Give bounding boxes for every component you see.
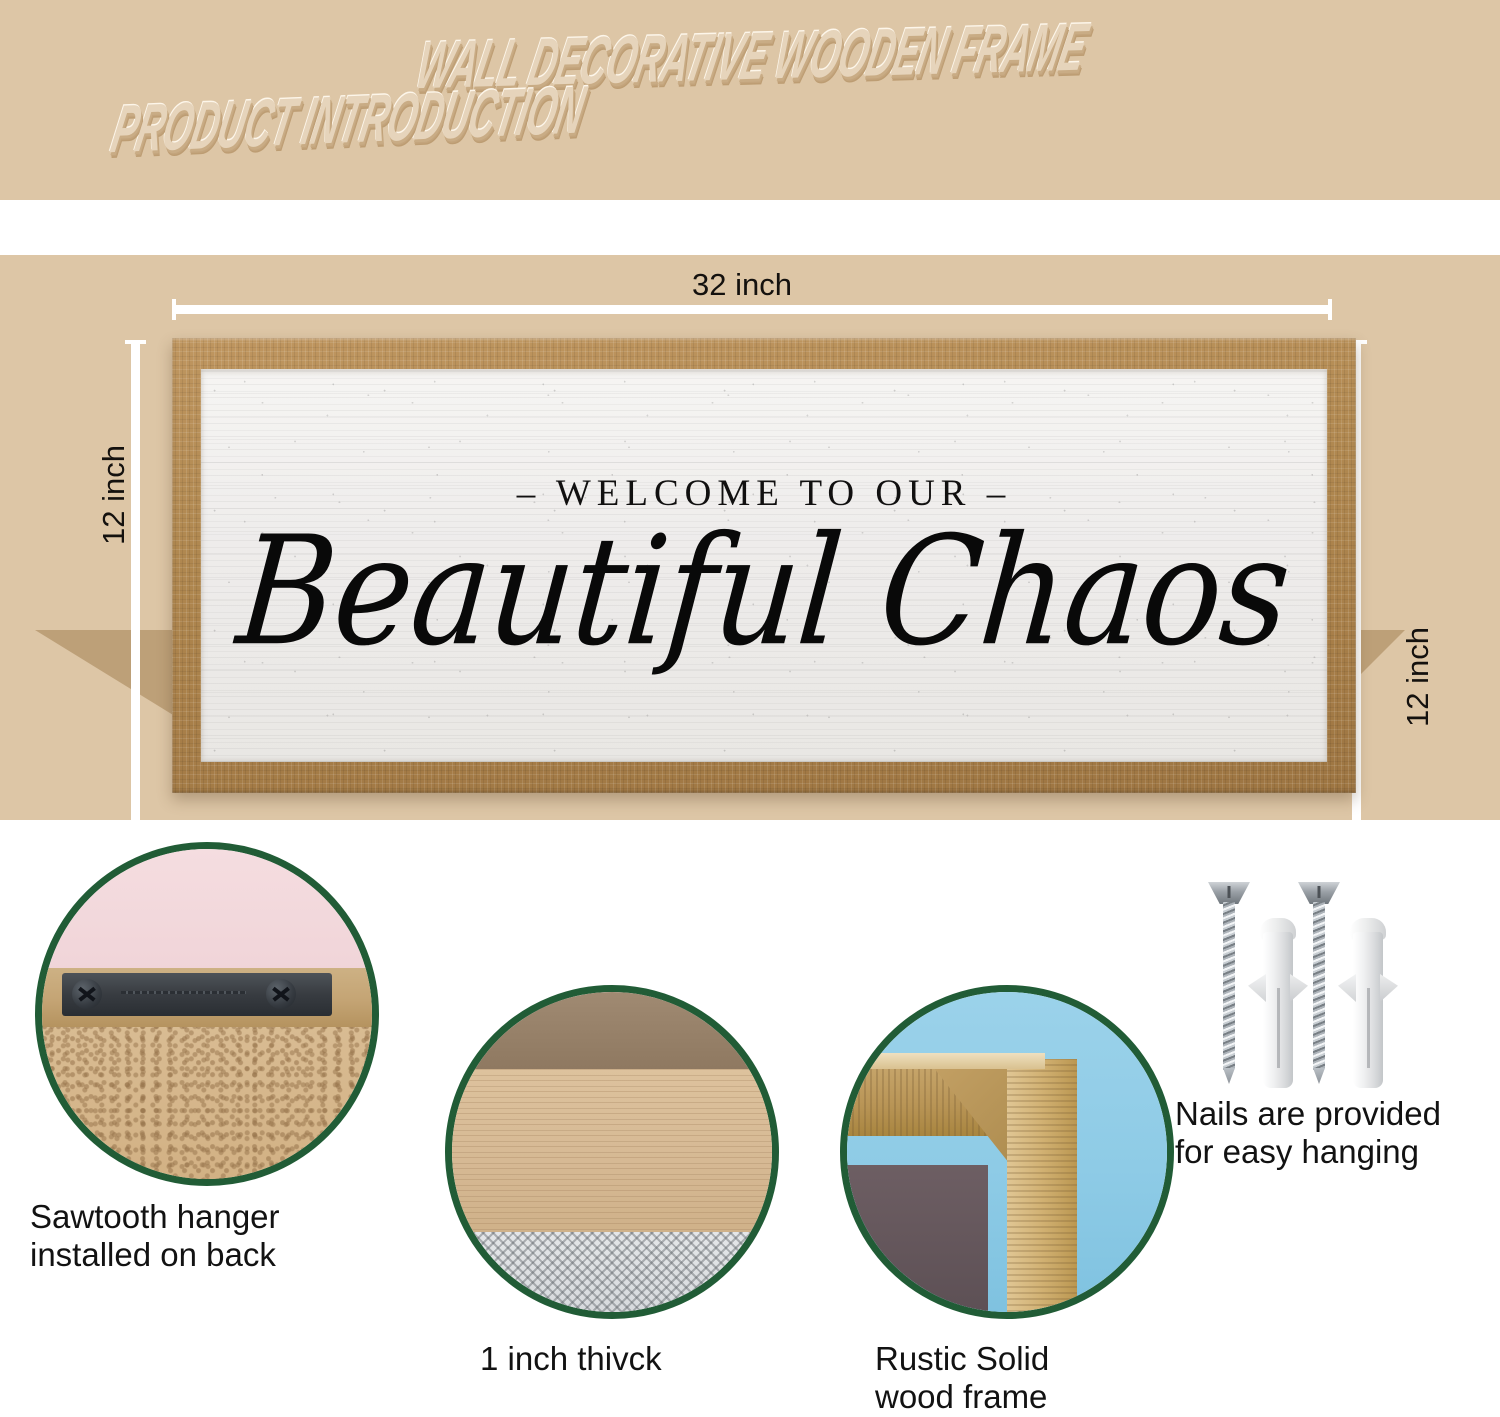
feature-caption-thickness: 1 inch thivck [480,1340,800,1378]
feature-photo-sawtooth-hanger [35,842,379,1186]
pink-wall-background [42,849,372,974]
caption-line-1: Sawtooth hanger [30,1198,390,1236]
dimension-label-height-right: 12 inch [1400,627,1436,727]
mesh-surface [452,1232,772,1312]
screw-shaft [1223,902,1235,1070]
screw-shaft [1313,902,1325,1070]
anchor-wing-right [1290,974,1308,1002]
wooden-sign-frame: – WELCOME TO OUR – Beautiful Chaos [172,338,1356,793]
wall-anchor-icon-2 [1347,918,1389,1088]
header-title-line-2: PRODUCT INTRODUCTION [61,80,636,158]
screw-icon-2 [1309,882,1329,1082]
screw-head [1208,882,1250,904]
feature-caption-nails: Nails are provided for easy hanging [1175,1095,1500,1172]
feature-photo-thickness [445,985,779,1319]
caption-line-2: for easy hanging [1175,1133,1500,1171]
caption-line-1: Nails are provided [1175,1095,1500,1133]
caption-line-1: Rustic Solid [875,1340,1205,1378]
feature-photo-wood-frame [840,985,1174,1319]
anchor-slot [1367,988,1370,1068]
frame-vertical-rail [1007,1059,1077,1312]
wood-top-surface [452,992,772,1072]
anchor-wing-left [1338,974,1356,1002]
caption-line-2: wood frame [875,1378,1205,1416]
dark-floor-background [847,1165,988,1312]
screw-tip [1313,1068,1325,1084]
dimension-label-height-left: 12 inch [96,445,132,545]
caption-line-2: installed on back [30,1236,390,1274]
anchor-wing-left [1248,974,1266,1002]
frame-top-edge-highlight [840,1053,1045,1069]
feature-caption-sawtooth-hanger: Sawtooth hanger installed on back [30,1198,390,1275]
anchor-wing-right [1380,974,1398,1002]
dimension-line-height-left [131,340,140,820]
anchor-slot [1277,988,1280,1068]
sign-script-text: Beautiful Chaos [233,515,1295,668]
feature-caption-wood-frame: Rustic Solid wood frame [875,1340,1205,1417]
screw-head [1298,882,1340,904]
dimension-cap-height-left-top [125,340,146,344]
section-divider [0,200,1500,255]
sawtooth-teeth [121,991,245,994]
header-title-line-2-text: PRODUCT INTRODUCTION [105,70,591,169]
hardware-illustration [1205,870,1405,1085]
dimension-line-width [172,305,1332,314]
feature-highlights-section: Sawtooth hanger installed on back 1 inch… [0,820,1500,1395]
product-hero-section: 32 inch 12 inch 12 inch – WELCOME TO OUR… [0,255,1500,820]
screw-icon-1 [1219,882,1239,1082]
dimension-cap-width-left [172,299,176,320]
sign-panel: – WELCOME TO OUR – Beautiful Chaos [201,369,1327,762]
wall-anchor-icon-1 [1257,918,1299,1088]
screw-icon-left [72,979,102,1009]
wood-edge-grain [452,1069,772,1235]
screw-tip [1223,1068,1235,1084]
dimension-cap-width-right [1328,299,1332,320]
dimension-label-width: 32 inch [692,267,792,303]
mdf-back-board [42,1024,372,1179]
caption-line-1: 1 inch thivck [480,1340,800,1378]
header-banner: WALL DECORATIVE WOODEN FRAME PRODUCT INT… [0,0,1500,200]
